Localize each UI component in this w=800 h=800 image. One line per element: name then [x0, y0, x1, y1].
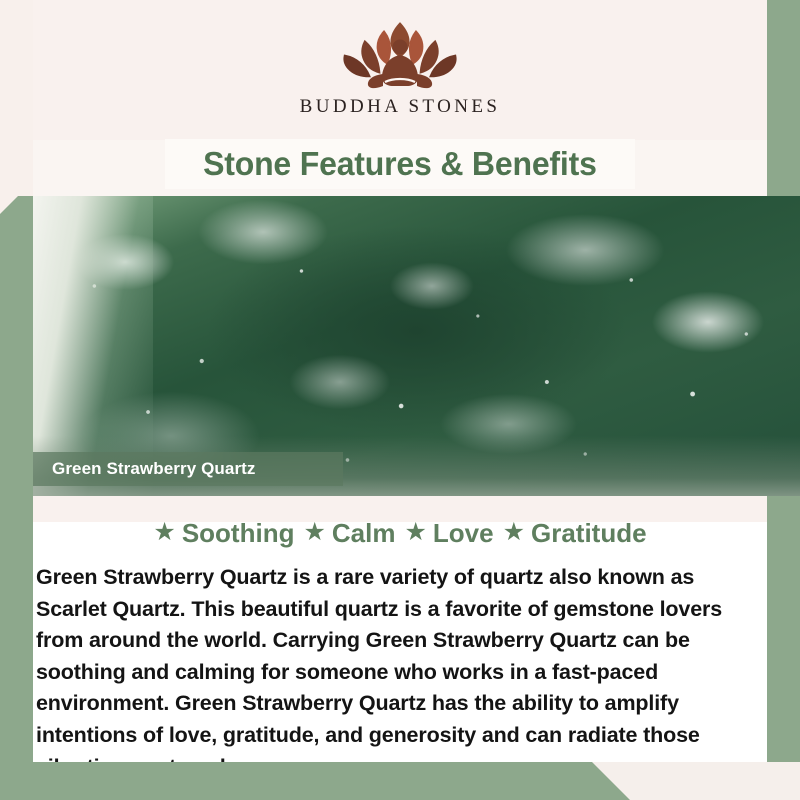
star-icon: ★	[153, 520, 175, 545]
brand-wordmark: BUDDHA STONES	[300, 96, 501, 118]
frame-bottom-bar	[0, 762, 640, 800]
photo-caption-bar: Green Strawberry Quartz	[33, 452, 343, 486]
lotus-meditation-icon	[315, 16, 485, 94]
feature-label: Calm	[332, 518, 396, 549]
description-paragraph: Green Strawberry Quartz is a rare variet…	[36, 562, 762, 783]
star-icon: ★	[404, 520, 426, 545]
section-title-band: Stone Features & Benefits	[165, 139, 635, 189]
feature-label: Soothing	[182, 518, 295, 549]
gemstone-photo: Green Strawberry Quartz	[33, 196, 800, 496]
features-row: ★ Soothing ★ Calm ★ Love ★ Gratitude	[33, 518, 767, 549]
content-panel: ★ Soothing ★ Calm ★ Love ★ Gratitude Gre…	[33, 496, 767, 762]
star-icon: ★	[303, 520, 325, 545]
feature-label: Love	[433, 518, 494, 549]
feature-item-gratitude: ★ Gratitude	[503, 518, 647, 549]
photo-caption-label: Green Strawberry Quartz	[52, 459, 256, 479]
frame-left-bar	[0, 196, 33, 792]
feature-item-love: ★ Love	[404, 518, 493, 549]
page-title: Stone Features & Benefits	[203, 145, 597, 183]
brand-header: BUDDHA STONES	[33, 0, 767, 140]
feature-item-soothing: ★ Soothing	[153, 518, 294, 549]
feature-item-calm: ★ Calm	[303, 518, 395, 549]
feature-label: Gratitude	[531, 518, 647, 549]
star-icon: ★	[503, 520, 525, 545]
product-info-poster: BUDDHA STONES Stone Features & Benefits …	[0, 0, 800, 800]
